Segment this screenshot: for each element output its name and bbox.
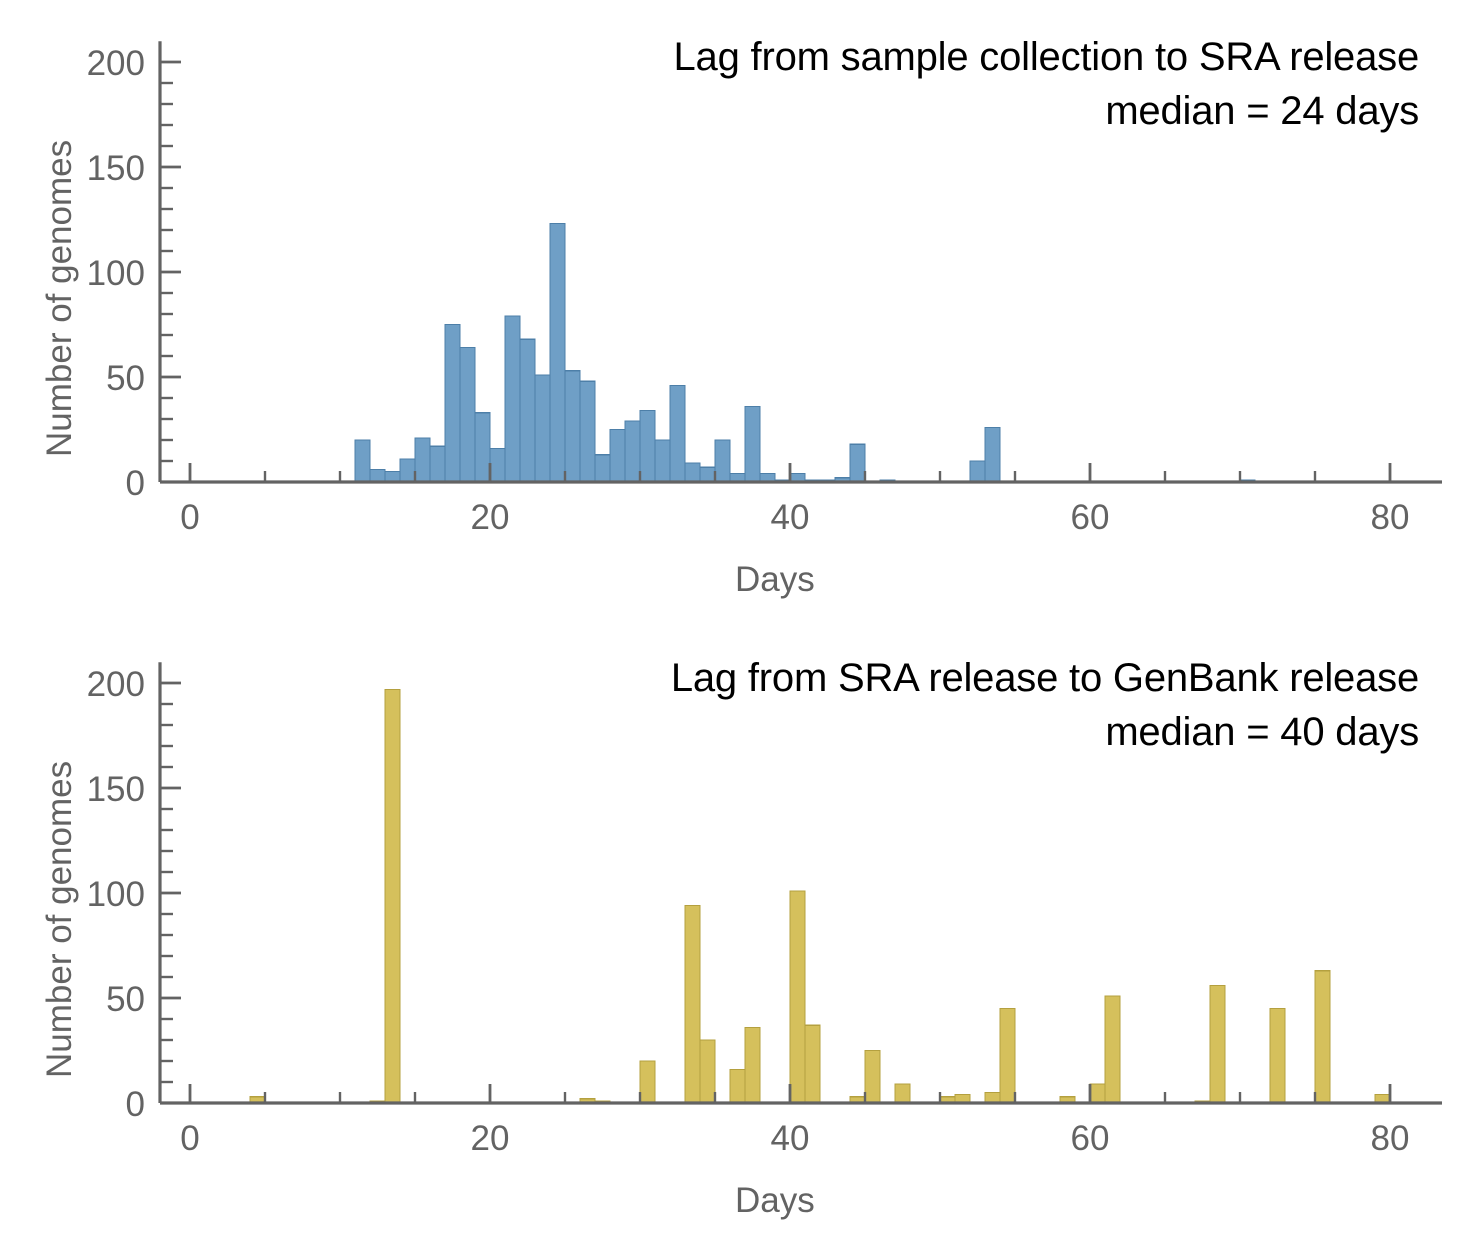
x-tick-label: 80 (1371, 1119, 1410, 1158)
x-tick-label: 60 (1071, 498, 1110, 537)
bar-series (355, 224, 1255, 482)
bar (685, 463, 700, 482)
bar (895, 1084, 910, 1103)
bar (475, 413, 490, 482)
y-axis-label-top: Number of genomes (40, 140, 80, 457)
x-tick-label: 0 (180, 498, 199, 537)
axes: 020406080050100150200 (87, 662, 1442, 1158)
x-tick-label: 20 (471, 1119, 510, 1158)
y-tick-label: 200 (87, 665, 145, 704)
bar (460, 348, 475, 482)
chart-panel-bottom: Lag from SRA release to GenBank release … (0, 629, 1459, 1259)
y-axis-label-bottom: Number of genomes (40, 761, 80, 1078)
bar (625, 421, 640, 482)
bar (865, 1051, 880, 1104)
bar (535, 375, 550, 482)
bar (670, 385, 685, 482)
bar (385, 689, 400, 1103)
y-tick-label: 50 (106, 359, 145, 398)
y-tick-label: 100 (87, 254, 145, 293)
bar (1090, 1084, 1105, 1103)
bar (745, 406, 760, 482)
bar (430, 446, 445, 482)
bar (730, 1069, 745, 1103)
bar (490, 448, 505, 482)
x-tick-label: 20 (471, 498, 510, 537)
y-tick-label: 50 (106, 980, 145, 1019)
bar (850, 444, 865, 482)
bar (700, 1040, 715, 1103)
y-tick-label: 200 (87, 44, 145, 83)
bar (370, 469, 385, 482)
x-tick-label: 80 (1371, 498, 1410, 537)
figure-root: Lag from sample collection to SRA releas… (0, 0, 1459, 1259)
x-axis-label-top: Days (735, 560, 815, 600)
bar (505, 316, 520, 482)
bar (745, 1027, 760, 1103)
bar (415, 438, 430, 482)
bar (610, 430, 625, 483)
chart-panel-top: Lag from sample collection to SRA releas… (0, 0, 1459, 630)
bar (640, 411, 655, 482)
y-tick-label: 0 (126, 464, 145, 503)
plot-area-top: 020406080050100150200 (0, 0, 1459, 630)
bar (595, 455, 610, 482)
y-tick-label: 0 (126, 1085, 145, 1124)
bar (1105, 996, 1120, 1103)
bar-series (250, 689, 1390, 1103)
bar (805, 1025, 820, 1103)
axes: 020406080050100150200 (87, 41, 1442, 537)
bar (790, 891, 805, 1103)
bar (400, 459, 415, 482)
y-tick-label: 150 (87, 149, 145, 188)
bar (355, 440, 370, 482)
bar (1000, 1009, 1015, 1104)
y-tick-label: 100 (87, 875, 145, 914)
y-tick-label: 150 (87, 770, 145, 809)
bar (1210, 985, 1225, 1103)
x-tick-label: 0 (180, 1119, 199, 1158)
bar (1315, 971, 1330, 1103)
bar (1270, 1009, 1285, 1104)
bar (685, 906, 700, 1103)
x-tick-label: 60 (1071, 1119, 1110, 1158)
bar (445, 325, 460, 483)
x-tick-label: 40 (771, 1119, 810, 1158)
bar (970, 461, 985, 482)
bar (700, 467, 715, 482)
x-axis-label-bottom: Days (735, 1181, 815, 1221)
bar (580, 381, 595, 482)
bar (520, 339, 535, 482)
bar (655, 440, 670, 482)
bar (640, 1061, 655, 1103)
plot-area-bottom: 020406080050100150200 (0, 629, 1459, 1259)
bar (985, 427, 1000, 482)
bar (550, 224, 565, 482)
bar (565, 371, 580, 482)
bar (715, 440, 730, 482)
x-tick-label: 40 (771, 498, 810, 537)
